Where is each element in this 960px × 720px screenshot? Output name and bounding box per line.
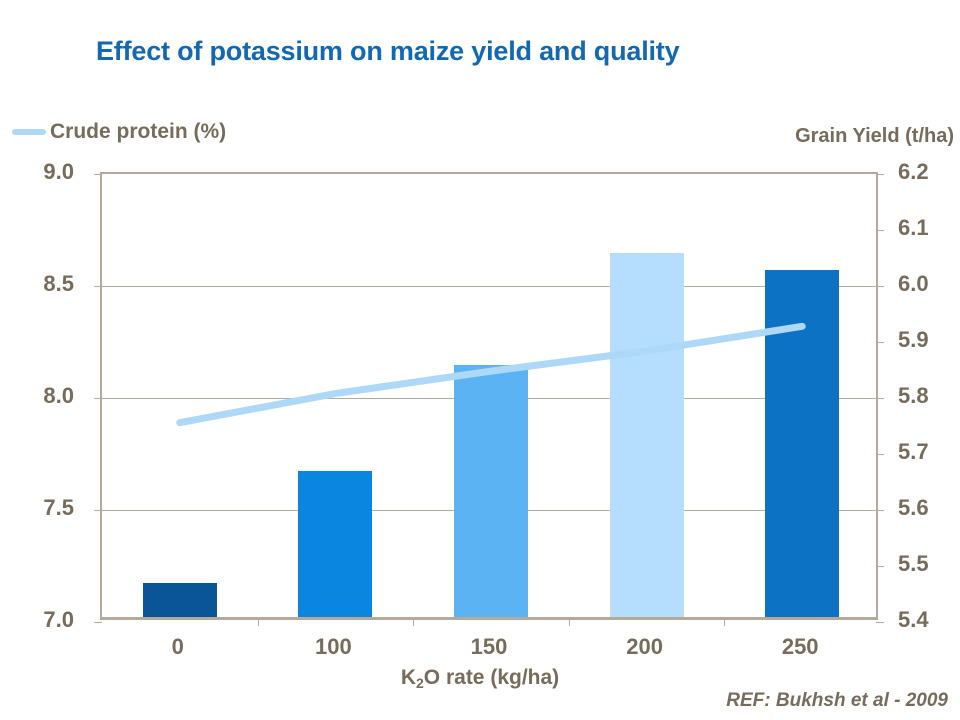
y-axis-right-label: 6.0 <box>898 271 929 297</box>
y-axis-right-tick <box>876 622 884 623</box>
reference-note: REF: Bukhsh et al - 2009 <box>726 690 948 712</box>
y-axis-right-label: 5.5 <box>898 551 929 577</box>
y-axis-left-label: 7.0 <box>43 607 74 633</box>
chart-container: Effect of potassium on maize yield and q… <box>0 0 960 720</box>
y-axis-right-label: 5.8 <box>898 383 929 409</box>
x-axis-label-200: 200 <box>626 634 663 660</box>
line-path-crude-protein <box>180 326 802 422</box>
y-axis-left-tick <box>94 174 102 175</box>
x-axis-title: K2O rate (kg/ha) <box>0 666 960 690</box>
y-axis-left-tick <box>94 622 102 623</box>
x-axis-tick <box>724 617 725 626</box>
y-axis-right-label: 5.9 <box>898 327 929 353</box>
y-axis-right-label: 6.1 <box>898 215 929 241</box>
y-axis-left-label: 9.0 <box>43 159 74 185</box>
line-series-crude-protein <box>102 174 880 622</box>
x-axis-tick <box>569 617 570 626</box>
y-axis-right-label: 6.2 <box>898 159 929 185</box>
x-axis-tick <box>258 617 259 626</box>
legend-label-crude-protein: Crude protein (%) <box>50 120 226 144</box>
y-axis-left-tick <box>94 398 102 399</box>
x-axis-label-100: 100 <box>315 634 352 660</box>
y-axis-right-label: 5.7 <box>898 439 929 465</box>
x-axis-label-150: 150 <box>471 634 508 660</box>
y-axis-right-label: 5.4 <box>898 607 929 633</box>
y-axis-right-label: 5.6 <box>898 495 929 521</box>
y-axis-left-label: 8.5 <box>43 271 74 297</box>
x-axis-label-0: 0 <box>172 634 184 660</box>
plot-area <box>100 172 878 620</box>
legend-swatch-crude-protein <box>12 129 46 135</box>
y-axis-left-label: 7.5 <box>43 495 74 521</box>
secondary-axis-title: Grain Yield (t/ha) <box>795 125 954 148</box>
x-axis-tick <box>413 617 414 626</box>
legend: Crude protein (%) <box>12 120 226 144</box>
y-axis-left-tick <box>94 510 102 511</box>
y-axis-left-tick <box>94 286 102 287</box>
chart-title: Effect of potassium on maize yield and q… <box>96 36 679 67</box>
x-axis-label-250: 250 <box>782 634 819 660</box>
y-axis-left-label: 8.0 <box>43 383 74 409</box>
